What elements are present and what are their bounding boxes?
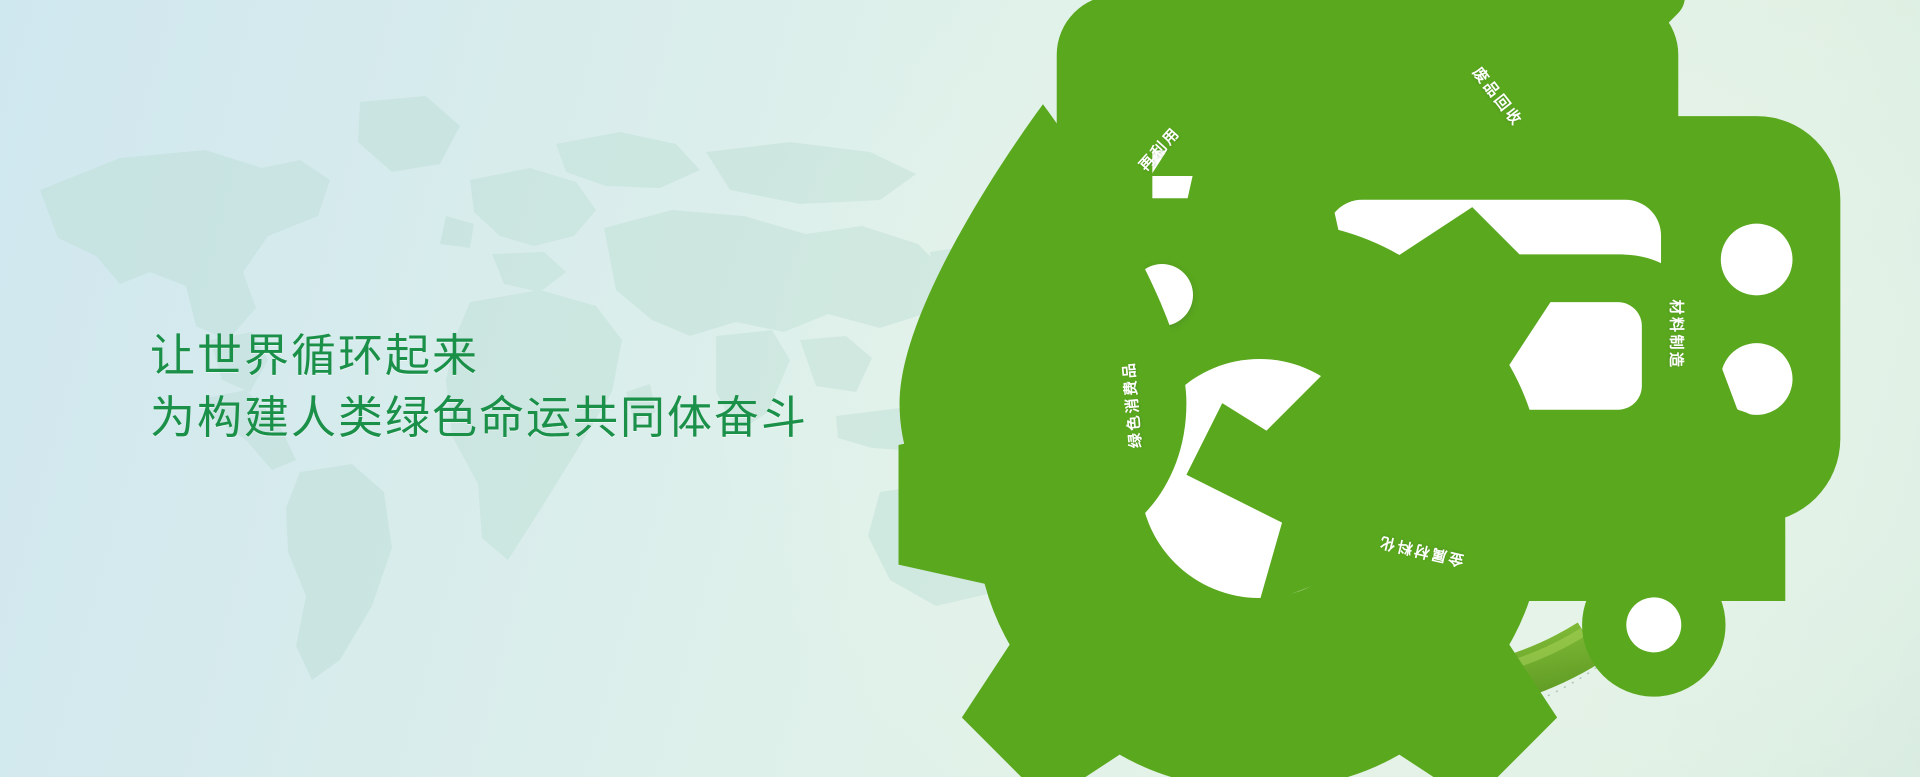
industry-chain-diagram: 废水、废渣、 废泥治理 产业链 废旧电池回收 与动力电池材 料制造产业链 电子废… xyxy=(1015,6,1785,771)
headline-line-2: 为构建人类绿色命运共同体奋斗 xyxy=(150,387,808,449)
banner-stage: 让世界循环起来 为构建人类绿色命运共同体奋斗 xyxy=(0,0,1920,777)
water-recycle-icon[interactable] xyxy=(1131,264,1193,326)
page-title: 让世界循环起来 为构建人类绿色命运共同体奋斗 xyxy=(150,325,808,449)
headline-line-1: 让世界循环起来 xyxy=(150,325,808,387)
